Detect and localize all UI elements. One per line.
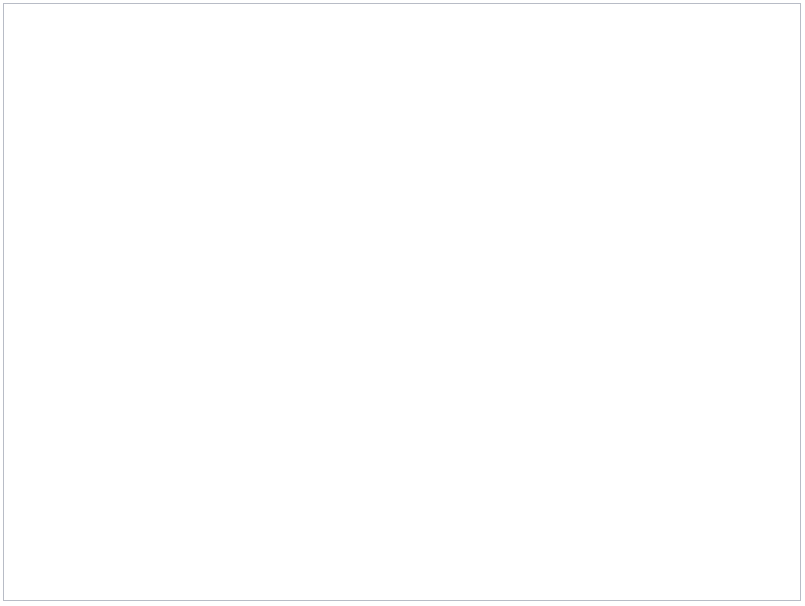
presentation-slide: 绿 树 GREEN TREE ® HB PLASTIC: [0, 0, 805, 606]
company-logo: 绿 树 GREEN TREE ® HB PLASTIC: [631, 16, 799, 68]
list-item: 人工、电费相差无几: [207, 209, 787, 242]
logo-svg: 绿 树 GREEN TREE ® HB PLASTIC: [631, 16, 799, 68]
green-curve-svg: [4, 4, 234, 600]
green-curve-main: [4, 4, 199, 600]
bullet-list: 原料价格透明 人工、电费相差无几 产量以重量计算 售价以重量计算 运输费用以重量…: [207, 176, 787, 435]
bullet-dot-icon: [215, 256, 220, 261]
list-item-label: 产量以重量计算: [244, 248, 381, 269]
list-item-label: 原料价格透明: [244, 182, 361, 203]
closing-line-1: 使客户以尽量少的重量获得尽量多的面积–减薄: [207, 463, 787, 494]
bullet-dot-icon: [215, 355, 220, 360]
lead-paragraph: 流延膜的成本的决定因素是其使用的原料--聚乙烯: [207, 142, 787, 172]
list-item-label: 运输费用以重量计算: [244, 314, 420, 335]
logo-underline: [679, 52, 791, 54]
hb-wordmark: HB: [679, 24, 715, 54]
bullet-dot-icon: [215, 322, 220, 327]
list-item-label: 以体积存储: [244, 347, 342, 368]
plastic-wordmark: PLASTIC: [718, 31, 797, 51]
closing-paragraph: 使客户以尽量少的重量获得尽量多的面积–减薄 是客户获得绝对优势的关键: [207, 463, 787, 525]
green-tree-emblem-icon: 绿 树 GREEN TREE: [631, 16, 675, 60]
svg-text:HB: HB: [679, 24, 715, 54]
closing-line-2-suffix: 的关键: [383, 499, 442, 520]
list-item: 原料价格透明: [207, 176, 787, 209]
svg-text:树: 树: [660, 35, 666, 43]
bullet-dot-icon: [215, 190, 220, 195]
closing-line-2-prefix: 是客户获得: [207, 499, 305, 520]
list-item-label: 售价以重量计算: [244, 281, 381, 302]
slide-body: 流延膜的成本的决定因素是其使用的原料--聚乙烯 原料价格透明 人工、电费相差无几…: [207, 142, 787, 525]
closing-line-2: 是客户获得绝对优势的关键: [207, 494, 787, 525]
list-item-label-highlighted: 使用以面积使用: [244, 408, 381, 429]
bullet-dot-icon: [215, 223, 220, 228]
list-item: 运输费用以重量计算: [207, 308, 787, 341]
bullet-dot-icon-red: [215, 416, 220, 421]
closing-line-2-strong: 绝对优势: [305, 499, 383, 520]
svg-text:绿: 绿: [643, 35, 649, 43]
list-item: 产量以重量计算: [207, 242, 787, 275]
list-item-highlighted: 使用以面积使用: [207, 402, 787, 435]
list-item: 以体积存储: [207, 341, 787, 374]
company-name-text: XINLE HUABAO: [679, 56, 742, 65]
bullet-dot-icon: [215, 289, 220, 294]
green-sidebar-shape: [4, 4, 234, 600]
slide-canvas: 绿 树 GREEN TREE ® HB PLASTIC: [4, 4, 800, 600]
list-item: 售价以重量计算: [207, 275, 787, 308]
page-number: 4: [740, 563, 747, 578]
page-title: 流延膜的成本: [204, 44, 624, 104]
list-item-label: 人工、电费相差无几: [244, 215, 420, 236]
website-text: www.huabaosuliao.com: [735, 59, 795, 65]
